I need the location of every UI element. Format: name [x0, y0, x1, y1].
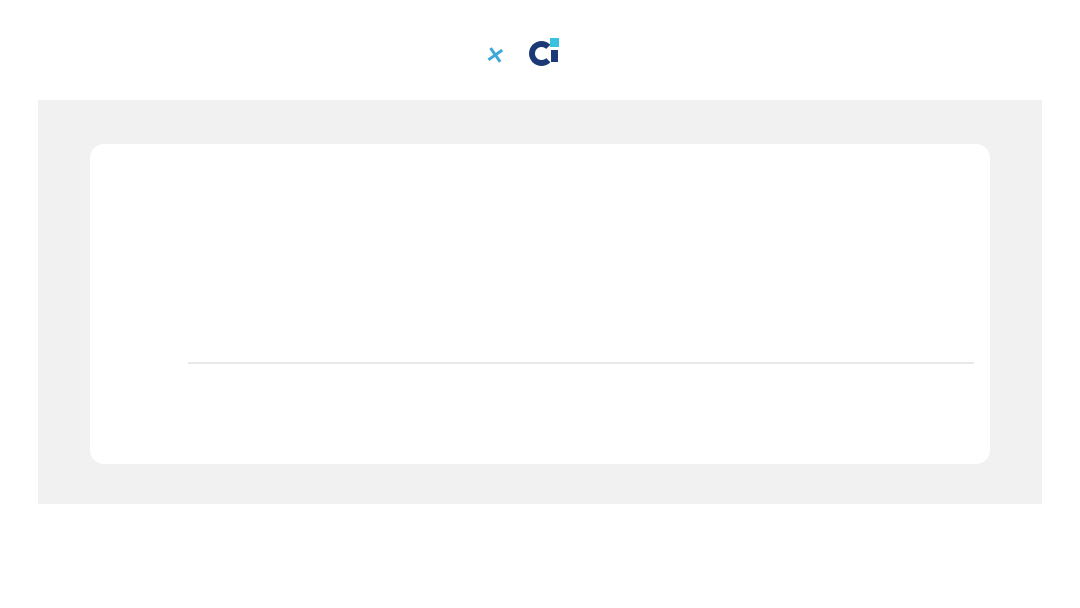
- x-mark-icon: ✕: [484, 42, 507, 71]
- chart-card: [90, 144, 990, 464]
- x-axis-line: [188, 362, 974, 364]
- bar-chart: [90, 144, 990, 464]
- chart-panel: [38, 100, 1042, 504]
- slide-root: ✕: [0, 0, 1080, 608]
- logo-evdata: ✕: [489, 51, 503, 55]
- logo-gausscode: [529, 38, 566, 68]
- y-axis-title: [104, 192, 120, 342]
- bar-groups: [188, 169, 970, 362]
- caption-block: [0, 528, 1080, 535]
- logo-bar: ✕: [0, 22, 1080, 84]
- gausscode-circle-icon: [529, 38, 559, 68]
- plot-area: [188, 169, 970, 362]
